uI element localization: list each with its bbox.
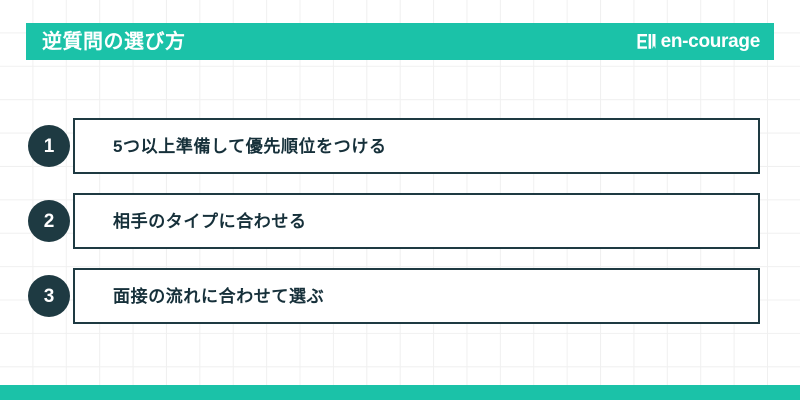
list-item-box: 面接の流れに合わせて選ぶ	[73, 268, 760, 324]
slide-canvas: 逆質問の選び方 en-courage 5つ以上準備して優先順位をつける 1 相手…	[0, 0, 800, 400]
list-item-number-badge: 2	[28, 200, 70, 242]
list-item-box: 5つ以上準備して優先順位をつける	[73, 118, 760, 174]
book-logo-icon	[636, 31, 657, 52]
list-item-box: 相手のタイプに合わせる	[73, 193, 760, 249]
list-item: 相手のタイプに合わせる 2	[26, 193, 760, 249]
list-item-label: 相手のタイプに合わせる	[113, 213, 307, 230]
list-item-number-badge: 3	[28, 275, 70, 317]
list-item: 面接の流れに合わせて選ぶ 3	[26, 268, 760, 324]
list-item-number-badge: 1	[28, 125, 70, 167]
list-item: 5つ以上準備して優先順位をつける 1	[26, 118, 760, 174]
header-bar: 逆質問の選び方 en-courage	[26, 23, 774, 60]
footer-accent-bar	[0, 385, 800, 400]
list-item-label: 面接の流れに合わせて選ぶ	[113, 288, 324, 305]
brand-name: en-courage	[661, 32, 760, 51]
list-item-label: 5つ以上準備して優先順位をつける	[113, 138, 387, 155]
brand-logo: en-courage	[636, 31, 760, 52]
page-title: 逆質問の選び方	[42, 32, 186, 52]
